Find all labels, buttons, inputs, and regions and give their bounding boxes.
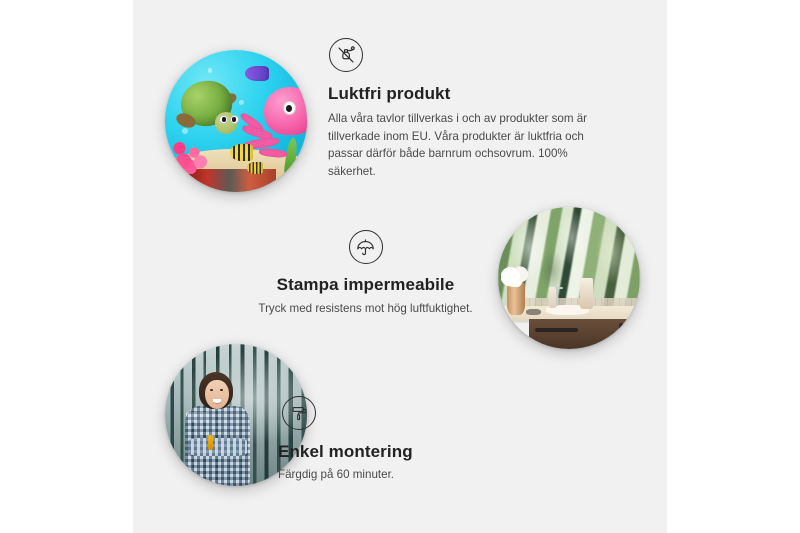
feature-title: Enkel montering <box>278 441 578 462</box>
page-root: Luktfri produkt Alla våra tavlor tillver… <box>0 0 800 533</box>
turtle-eye <box>230 115 239 124</box>
no-odour-spray-bottle-icon <box>329 38 363 72</box>
paint-roller-icon <box>282 396 316 430</box>
feature-description: Tryck med resistens mot hög luftfuktighe… <box>153 300 578 318</box>
turtle-eye <box>219 115 228 124</box>
person-smile <box>213 399 222 402</box>
hand-tool <box>208 435 214 451</box>
fish-icon <box>247 162 263 173</box>
content-canvas: Luktfri produkt Alla våra tavlor tillver… <box>133 0 667 533</box>
fish-icon <box>230 144 253 161</box>
cabinet-handle <box>619 323 623 346</box>
coral-icon <box>171 131 214 174</box>
person-face <box>205 380 229 410</box>
photo-aquarium <box>165 50 307 192</box>
vanity-cabinet <box>529 319 640 349</box>
octopus-eye <box>283 101 296 115</box>
bubble-icon <box>239 100 244 105</box>
drawer-handle <box>535 328 578 332</box>
umbrella-icon <box>349 230 383 264</box>
feature-waterproof: Stampa impermeabile Tryck med resistens … <box>153 230 578 318</box>
feature-title: Luktfri produkt <box>328 83 628 104</box>
person-arms <box>188 438 248 456</box>
aquarium-scene <box>165 50 307 192</box>
feature-title: Stampa impermeabile <box>153 274 578 295</box>
feature-assembly: Enkel montering Färgdig på 60 minuter. <box>278 396 578 484</box>
soap-dispenser <box>580 278 593 309</box>
fish-icon <box>245 66 269 82</box>
feature-description: Färgdig på 60 minuter. <box>278 466 578 484</box>
bubble-icon <box>208 68 212 72</box>
feature-description: Alla våra tavlor tillverkas i och av pro… <box>328 110 618 180</box>
feature-odourless: Luktfri produkt Alla våra tavlor tillver… <box>328 38 628 181</box>
